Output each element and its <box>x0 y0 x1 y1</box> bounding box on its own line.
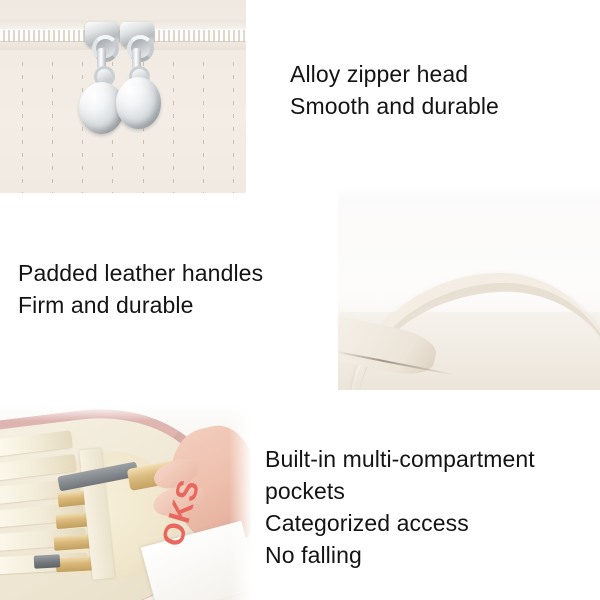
feature-line: pockets <box>265 475 600 507</box>
padded-handle-photo <box>338 186 600 390</box>
photo-top-fade <box>338 186 600 202</box>
feature-line: Firm and durable <box>18 289 263 321</box>
zipper-closeup-photo <box>0 0 246 193</box>
feature-text-padded-handles: Padded leather handles Firm and durable <box>18 257 263 321</box>
feature-text-multi-compartment: Built-in multi-compartment pockets Categ… <box>265 443 600 571</box>
feature-line: Built-in multi-compartment <box>265 443 600 475</box>
feature-line: Smooth and durable <box>290 90 499 122</box>
feature-line: No falling <box>265 539 600 571</box>
brush-compartments-photo: OKS <box>0 405 255 600</box>
feature-text-alloy-zipper: Alloy zipper head Smooth and durable <box>290 58 499 122</box>
feature-line: Categorized access <box>265 507 600 539</box>
feature-line: Alloy zipper head <box>290 58 499 90</box>
product-feature-infographic: Alloy zipper head Smooth and durable Pad… <box>0 0 600 600</box>
zipper-slider-right <box>120 22 154 48</box>
feature-line: Padded leather handles <box>18 257 263 289</box>
zipper-pendant-right <box>116 77 161 129</box>
zipper-slider-left <box>85 22 119 48</box>
photo-top-fade <box>0 405 255 421</box>
photo-right-fade <box>229 405 255 600</box>
